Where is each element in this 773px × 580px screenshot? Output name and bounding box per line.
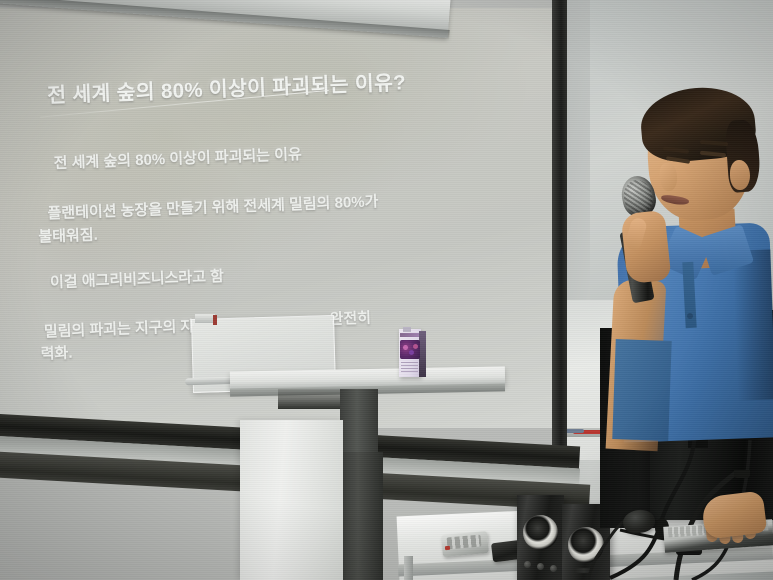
podium-clip [195, 314, 215, 323]
polo-button [687, 313, 693, 319]
podium-shelf [278, 389, 348, 409]
speaker-ear [730, 160, 750, 190]
left-speaker-cone [523, 515, 558, 550]
juice-carton-cap [403, 327, 411, 332]
speaker-jack[interactable] [550, 565, 557, 572]
lecture-room-photo: 전 세계 숲의 80% 이상이 파괴되는 이유? 전 세계 숲의 80% 이상이… [0, 0, 773, 580]
slide-line-4: 밀림의 파괴는 지구의 자 [43, 315, 194, 342]
slide-line-2: 플랜테이션 농장을 만들기 위해 전세계 밀림의 80%가 [47, 190, 379, 223]
slide-line-3: 이걸 애그리비즈니스라고 함 [50, 265, 225, 292]
desk-leg [404, 556, 413, 580]
speaker-volume-knob[interactable] [537, 563, 544, 570]
podium-clip-red-marker [213, 315, 217, 325]
podium-body-panel [240, 420, 343, 580]
slide-line-1: 전 세계 숲의 80% 이상이 파괴되는 이유 [53, 143, 302, 173]
slide-line-4-wrap: 력화. [40, 342, 73, 364]
berry-dot [413, 344, 418, 349]
podium-column-upper [340, 389, 378, 459]
grey-remote-power-button[interactable] [445, 546, 450, 550]
slide-title: 전 세계 숲의 80% 이상이 파괴되는 이유? [47, 65, 407, 108]
speaker-power-knob[interactable] [524, 561, 531, 568]
juice-carton-logo [400, 333, 419, 337]
polo-sleeve [612, 339, 671, 441]
slide-line-4-tail: 완전히 [329, 307, 371, 330]
berry-dot [409, 350, 414, 355]
juice-carton-label-text [401, 362, 418, 372]
juice-carton-side [419, 331, 426, 377]
torso-shading [732, 249, 773, 400]
berry-dot [403, 345, 408, 350]
slide-line-2-wrap: 불태워짐. [38, 224, 98, 247]
